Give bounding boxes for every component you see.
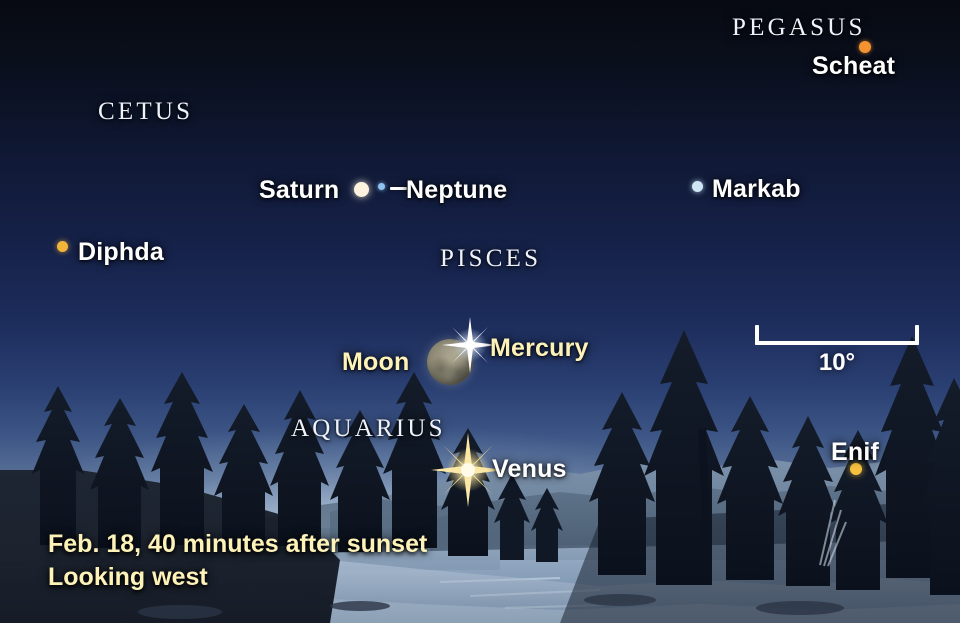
planet-label-mercury: Mercury	[490, 334, 589, 363]
scale-bar-tick-right	[915, 325, 919, 345]
star-label-scheat: Scheat	[812, 52, 895, 81]
planet-dot-saturn[interactable]	[354, 182, 369, 197]
planet-label-saturn: Saturn	[259, 176, 339, 205]
planet-label-neptune: Neptune	[406, 176, 507, 205]
star-label-markab: Markab	[712, 175, 801, 204]
caption-line-2: Looking west	[48, 561, 208, 593]
star-dot-markab[interactable]	[692, 181, 703, 192]
scale-bar-line	[755, 341, 919, 345]
scale-bar-label: 10°	[755, 349, 919, 377]
constellation-label-pisces: PISCES	[440, 245, 541, 273]
planet-label-venus: Venus	[492, 455, 567, 484]
constellation-label-pegasus: PEGASUS	[732, 14, 866, 42]
star-label-enif: Enif	[831, 438, 879, 467]
star-dot-diphda[interactable]	[57, 241, 68, 252]
planet-dot-neptune[interactable]	[378, 183, 385, 190]
neptune-leader-line	[390, 187, 407, 190]
scale-bar-tick-left	[755, 325, 759, 345]
scale-bar: 10°	[755, 341, 919, 345]
moon-label: Moon	[342, 348, 409, 377]
constellation-label-aquarius: AQUARIUS	[291, 415, 446, 443]
constellation-label-cetus: CETUS	[98, 98, 193, 126]
sky-chart: PEGASUS CETUS PISCES AQUARIUS Scheat Mar…	[0, 0, 960, 623]
caption-line-1: Feb. 18, 40 minutes after sunset	[48, 528, 427, 560]
star-label-diphda: Diphda	[78, 238, 164, 267]
